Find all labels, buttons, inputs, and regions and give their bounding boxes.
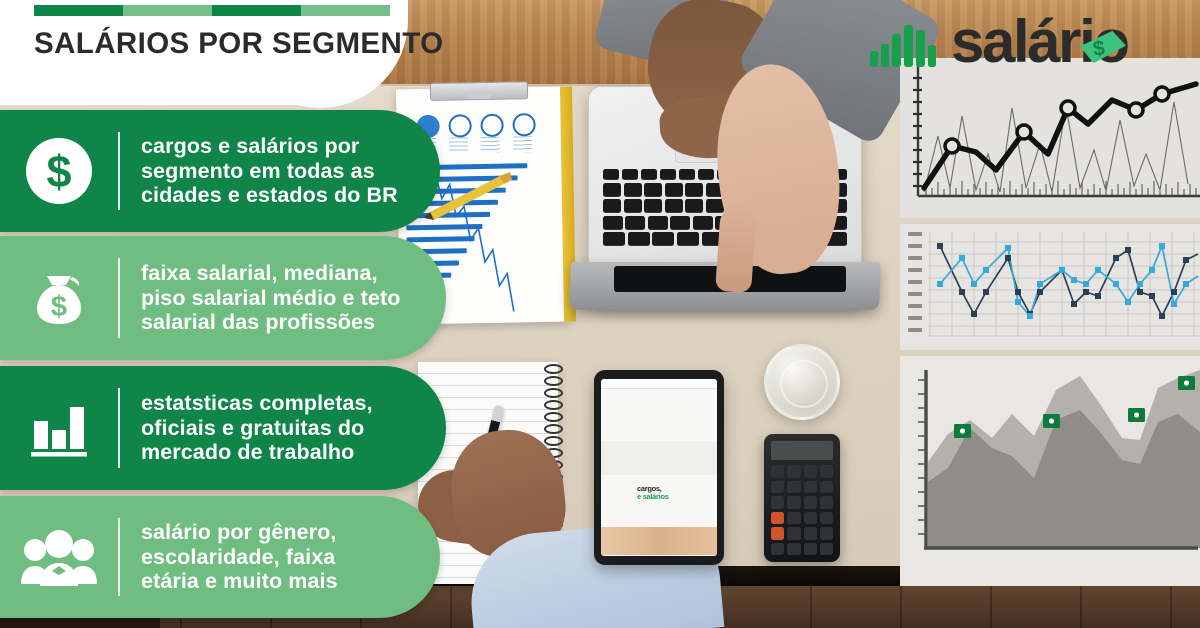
- chart-panel-dual-series: [900, 224, 1200, 350]
- calc-key[interactable]: [771, 465, 784, 478]
- doc-lines-3: [481, 137, 500, 153]
- bar-chart-equalizer-icon: [868, 21, 942, 69]
- calc-key-clear[interactable]: [771, 512, 784, 525]
- tablet-hero-section: [601, 389, 717, 441]
- tablet-promo-headline: cargos, e salários: [637, 485, 669, 501]
- feature-card-text: faixa salarial, mediana, piso salarial m…: [120, 261, 401, 335]
- feature-card-faixa-salarial[interactable]: $ faixa salarial, mediana, piso salarial…: [0, 236, 446, 360]
- calc-key[interactable]: [804, 512, 817, 525]
- tablet-footer-images: [601, 527, 717, 555]
- calc-key[interactable]: [804, 465, 817, 478]
- accent-segment-3: [212, 5, 301, 16]
- chart-panel-area: [900, 356, 1200, 586]
- calc-key[interactable]: [820, 465, 833, 478]
- calc-key[interactable]: [787, 465, 800, 478]
- calc-key[interactable]: [787, 527, 800, 540]
- feature-card-text: cargos e salários por segmento em todas …: [120, 134, 398, 208]
- doc-icon-3: [480, 114, 503, 137]
- chart-panel-trend: [900, 58, 1200, 218]
- area-chart: [900, 356, 1200, 586]
- tablet-feature-cards: [601, 441, 717, 475]
- promo-banner: cargos, e salários: [0, 0, 1200, 628]
- calc-key[interactable]: [820, 481, 833, 494]
- accent-segment-2: [123, 5, 212, 16]
- people-group-icon: [0, 526, 118, 588]
- calc-key[interactable]: [771, 543, 784, 556]
- calculator-keypad: [771, 465, 833, 555]
- calc-key[interactable]: [804, 496, 817, 509]
- calc-key[interactable]: [804, 543, 817, 556]
- tablet-screen: cargos, e salários: [601, 379, 717, 556]
- svg-text:$: $: [51, 291, 67, 323]
- feature-card-salario-genero[interactable]: salário por gênero, escolaridade, faixa …: [0, 496, 440, 618]
- doc-icon-2: [448, 114, 471, 137]
- tablet-headline-line2: e salários: [637, 493, 669, 501]
- feature-card-cargos-salarios[interactable]: $ cargos e salários por segmento em toda…: [0, 110, 440, 232]
- svg-text:$: $: [46, 146, 71, 197]
- doc-icon-4: [512, 113, 535, 136]
- accent-segment-1: [34, 5, 123, 16]
- pointing-finger: [715, 205, 757, 293]
- trend-line-chart: [900, 58, 1200, 218]
- bar-chart-icon: [0, 394, 118, 462]
- tablet-device: cargos, e salários: [594, 370, 724, 565]
- calc-key[interactable]: [820, 496, 833, 509]
- dollar-circle-icon: $: [0, 137, 118, 205]
- calc-key[interactable]: [787, 481, 800, 494]
- dollar-banknote-icon: $: [1074, 26, 1132, 82]
- header-accent-bar: [34, 5, 390, 16]
- calc-key[interactable]: [787, 496, 800, 509]
- calc-key[interactable]: [820, 527, 833, 540]
- dual-line-chart: [900, 224, 1200, 350]
- feature-card-text: estatsticas completas, oficiais e gratui…: [120, 391, 373, 465]
- tablet-site-nav: [601, 379, 717, 389]
- calculator-display: [771, 441, 833, 460]
- calc-key[interactable]: [787, 543, 800, 556]
- feature-card-estatisticas[interactable]: estatsticas completas, oficiais e gratui…: [0, 366, 446, 490]
- drinking-glass: [764, 344, 840, 420]
- calc-key[interactable]: [804, 527, 817, 540]
- tablet-promo-section: cargos, e salários: [601, 475, 717, 527]
- calc-key[interactable]: [804, 481, 817, 494]
- calc-key[interactable]: [771, 496, 784, 509]
- feature-card-text: salário por gênero, escolaridade, faixa …: [120, 520, 338, 594]
- calc-key[interactable]: [787, 512, 800, 525]
- calc-key[interactable]: [771, 481, 784, 494]
- doc-lines-2: [449, 137, 468, 153]
- brand-logo: salário $: [868, 18, 1128, 72]
- accent-segment-4: [301, 5, 390, 16]
- calculator: [764, 434, 840, 562]
- doc-lines-4: [513, 136, 532, 152]
- calc-key-equals[interactable]: [820, 543, 833, 556]
- calc-key-clear-entry[interactable]: [771, 527, 784, 540]
- money-bag-icon: $: [0, 264, 118, 332]
- calc-key[interactable]: [820, 512, 833, 525]
- clipboard-clip: [430, 81, 528, 101]
- page-title: SALÁRIOS POR SEGMENTO: [34, 27, 443, 61]
